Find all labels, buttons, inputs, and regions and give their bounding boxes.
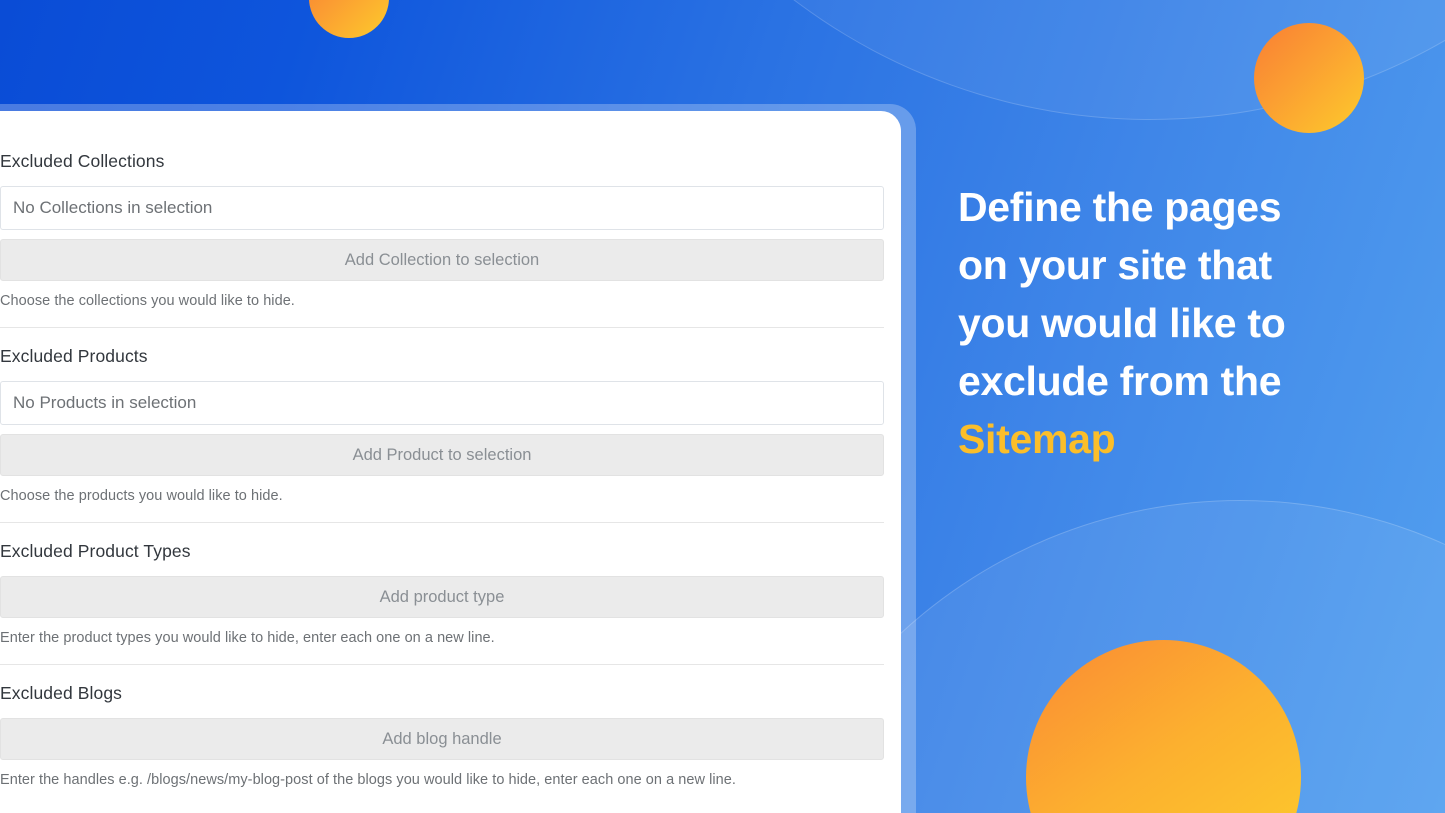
orange-circle-right <box>1254 23 1364 133</box>
hero-copy: Define the pages on your site that you w… <box>958 178 1388 468</box>
add-product-button[interactable]: Add Product to selection <box>0 434 884 476</box>
add-collection-button[interactable]: Add Collection to selection <box>0 239 884 281</box>
section-excluded-products: Excluded Products No Products in selecti… <box>0 327 884 522</box>
section-excluded-product-types: Excluded Product Types Add product type … <box>0 522 884 664</box>
blogs-help-text: Enter the handles e.g. /blogs/news/my-bl… <box>0 760 884 806</box>
settings-card: Excluded Collections No Collections in s… <box>0 111 901 813</box>
products-selection-value: No Products in selection <box>13 393 196 413</box>
hero-line-2: on your site that <box>958 236 1388 294</box>
product-types-help-text: Enter the product types you would like t… <box>0 618 884 664</box>
section-title-product-types: Excluded Product Types <box>0 523 884 576</box>
section-excluded-collections: Excluded Collections No Collections in s… <box>0 133 884 327</box>
orange-circle-large <box>1026 640 1301 813</box>
hero-line-4: exclude from the <box>958 352 1388 410</box>
products-help-text: Choose the products you would like to hi… <box>0 476 884 522</box>
add-blog-handle-button[interactable]: Add blog handle <box>0 718 884 760</box>
hero-accent-sitemap: Sitemap <box>958 410 1388 468</box>
section-title-collections: Excluded Collections <box>0 133 884 186</box>
hero-line-1: Define the pages <box>958 178 1388 236</box>
section-excluded-blogs: Excluded Blogs Add blog handle Enter the… <box>0 664 884 806</box>
collections-help-text: Choose the collections you would like to… <box>0 281 884 327</box>
add-product-type-button[interactable]: Add product type <box>0 576 884 618</box>
section-title-blogs: Excluded Blogs <box>0 665 884 718</box>
hero-line-3: you would like to <box>958 294 1388 352</box>
collections-selection-value: No Collections in selection <box>13 198 212 218</box>
products-selection-field[interactable]: No Products in selection <box>0 381 884 425</box>
orange-circle-top <box>309 0 389 38</box>
settings-form: Excluded Collections No Collections in s… <box>0 111 884 806</box>
collections-selection-field[interactable]: No Collections in selection <box>0 186 884 230</box>
section-title-products: Excluded Products <box>0 328 884 381</box>
background-arc-top-circle <box>560 0 1445 120</box>
promotional-screenshot: Excluded Collections No Collections in s… <box>0 0 1445 813</box>
